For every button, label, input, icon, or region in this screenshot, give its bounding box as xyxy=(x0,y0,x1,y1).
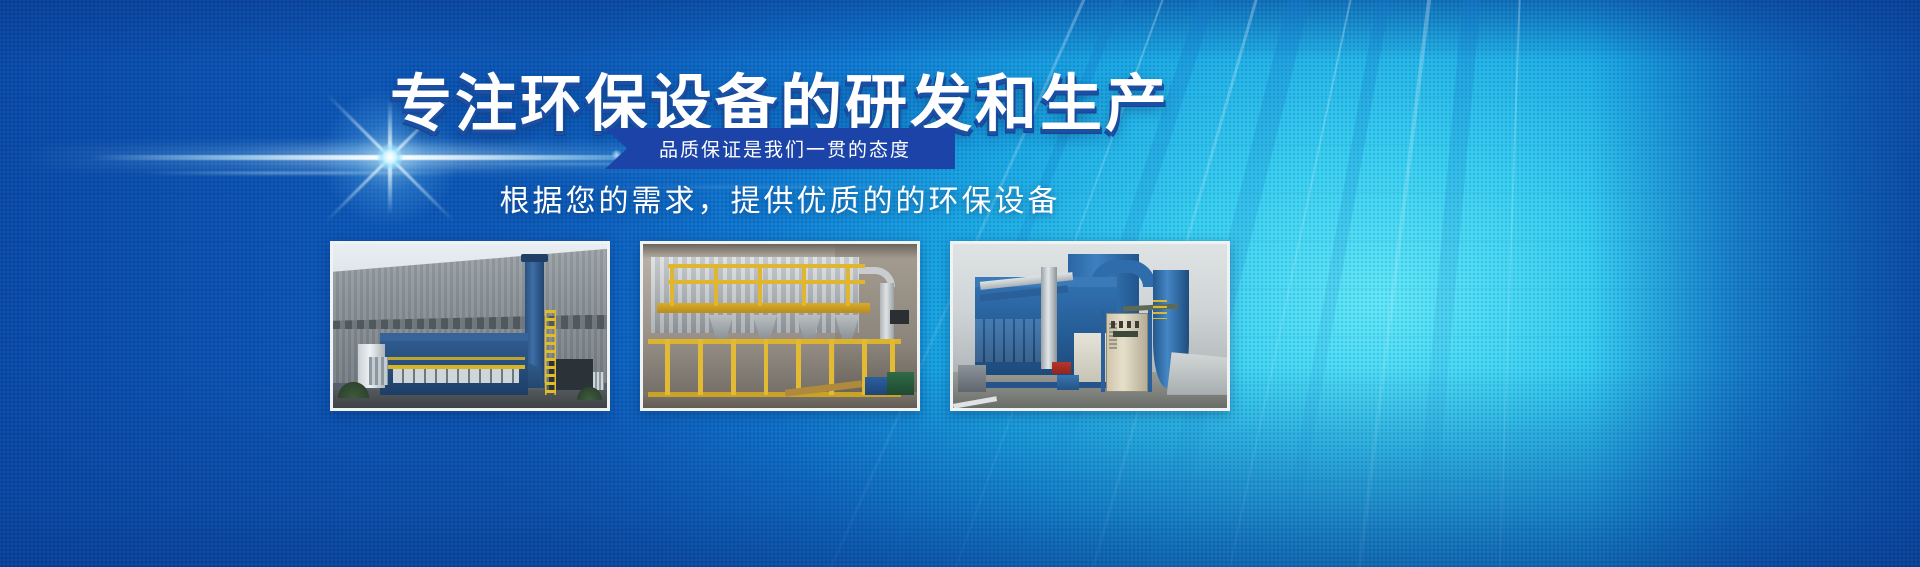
lower-post xyxy=(764,339,769,395)
silver-duct xyxy=(1041,267,1057,369)
yellow-railing xyxy=(388,365,525,369)
product-photo-2-image xyxy=(643,244,917,408)
promo-banner: 专注环保设备的研发和生产 品质保证是我们一贯的态度 根据您的需求，提供优质的的环… xyxy=(0,0,1920,567)
red-burner xyxy=(1052,362,1071,373)
unit-grill xyxy=(393,369,519,384)
blue-motor xyxy=(1057,375,1079,390)
grey-housing xyxy=(1167,352,1227,395)
deck-railing xyxy=(668,264,865,268)
banner-badge-wrapper: 品质保证是我们一贯的态度 xyxy=(0,128,1560,169)
railing-post xyxy=(670,264,674,307)
deck-railing xyxy=(668,280,865,284)
shrub xyxy=(577,387,602,400)
yellow-ladder xyxy=(545,310,556,395)
railing-post xyxy=(802,264,806,307)
product-photo-3-image xyxy=(953,244,1227,408)
platform-deck xyxy=(657,303,871,313)
yellow-ladder xyxy=(1153,300,1167,320)
blue-bin xyxy=(865,377,887,395)
cabinet-display xyxy=(1113,331,1138,338)
lower-post xyxy=(665,339,670,395)
banner-subtitle: 根据您的需求，提供优质的的环保设备 xyxy=(0,176,1560,220)
banner-content: 专注环保设备的研发和生产 品质保证是我们一贯的态度 根据您的需求，提供优质的的环… xyxy=(0,0,1920,567)
lower-post xyxy=(731,339,736,395)
support-frame xyxy=(1148,310,1152,392)
product-photo-strip xyxy=(330,241,1230,411)
support-frame xyxy=(1101,310,1105,392)
railing-post xyxy=(714,264,718,307)
railing-post xyxy=(758,264,762,307)
railing-post xyxy=(846,264,850,307)
product-photo-1[interactable] xyxy=(330,241,610,411)
yellow-railing xyxy=(388,357,525,360)
hopper-ribbing xyxy=(975,319,1041,362)
green-bin xyxy=(887,372,914,395)
wall-control-panel xyxy=(890,310,909,325)
silver-panel xyxy=(369,357,388,385)
lower-post xyxy=(698,339,703,395)
lower-post xyxy=(796,339,801,395)
quality-promise-badge: 品质保证是我们一贯的态度 xyxy=(605,128,955,169)
stack-cap xyxy=(521,254,548,262)
shrub xyxy=(338,382,368,398)
cabinet-buttons xyxy=(1111,321,1144,328)
product-photo-2[interactable] xyxy=(640,241,920,411)
product-photo-1-image xyxy=(333,244,607,408)
product-photo-3[interactable] xyxy=(950,241,1230,411)
grey-cart xyxy=(958,365,985,391)
